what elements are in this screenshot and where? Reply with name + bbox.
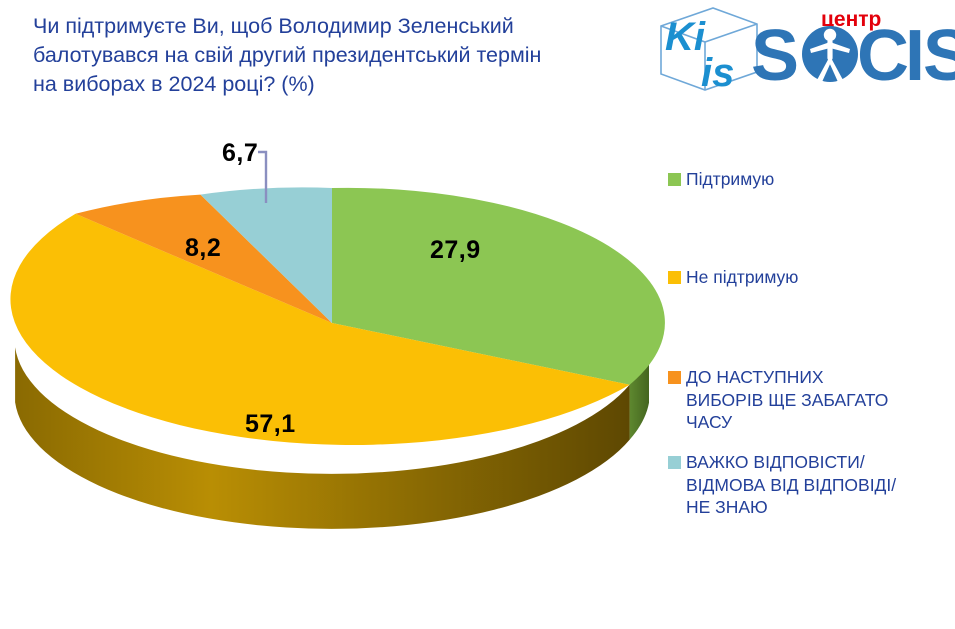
chart-title: Чи підтримуєте Ви, щоб Володимир Зеленсь… [33,12,633,99]
legend-item-too-long[interactable]: ДО НАСТУПНИХ ВИБОРІВ ЩЕ ЗАБАГАТО ЧАСУ [668,366,943,434]
socis-letter-i: I [905,16,925,94]
legend-label: Підтримую [686,168,774,191]
legend-label: ВАЖКО ВІДПОВІСТИ/ ВІДМОВА ВІД ВІДПОВІДІ/… [686,451,896,519]
legend-swatch-icon [668,371,681,384]
pie-chart [0,128,670,568]
socis-letter-c: C [857,16,909,94]
legend-label: ДО НАСТУПНИХ ВИБОРІВ ЩЕ ЗАБАГАТО ЧАСУ [686,366,888,434]
legend-swatch-icon [668,456,681,469]
logo-block: Ki is центр S C I S [655,2,955,94]
legend-swatch-icon [668,173,681,186]
legend-item-support[interactable]: Підтримую [668,168,943,191]
pie-label-hard-to-say: 6,7 [222,139,258,168]
pie-label-support: 27,9 [430,236,481,265]
legend-swatch-icon [668,271,681,284]
socis-letter-s2: S [923,16,955,94]
kiis-logo: Ki is [655,4,763,92]
kiis-bottom-text: is [701,51,734,92]
legend-label: Не підтримую [686,266,798,289]
socis-letter-s1: S [753,16,799,94]
legend-item-hard-to-say[interactable]: ВАЖКО ВІДПОВІСТИ/ ВІДМОВА ВІД ВІДПОВІДІ/… [668,451,943,519]
pie-label-too-long: 8,2 [185,234,221,263]
leader-line-hard-to-say [258,152,266,159]
legend-item-no-support[interactable]: Не підтримую [668,266,943,289]
kiis-top-text: Ki [665,15,706,59]
socis-logo: центр S C I S [753,2,955,94]
pie-label-no-support: 57,1 [245,410,296,439]
